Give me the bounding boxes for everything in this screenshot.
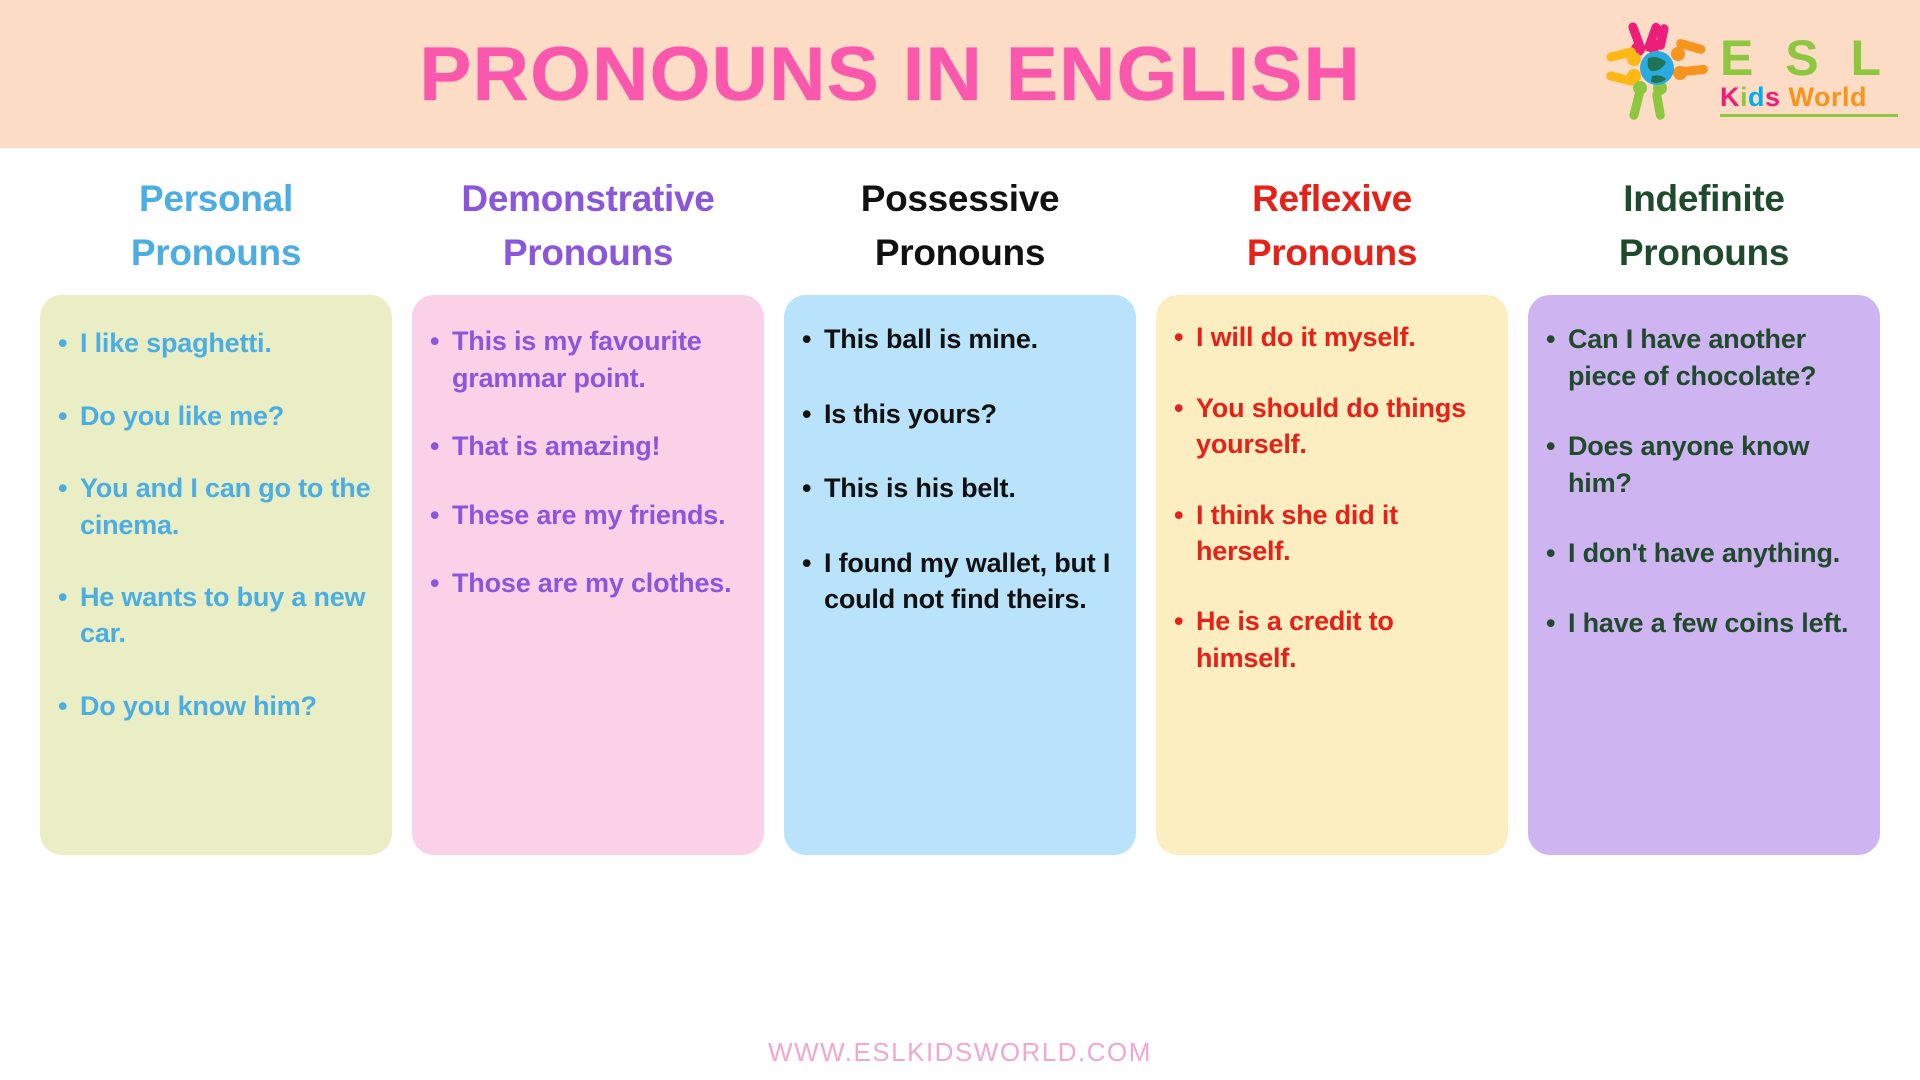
column-title-demonstrative-line2: Pronouns	[412, 226, 764, 280]
column-indefinite-pronouns: Indefinite Pronouns • Can I have another…	[1528, 148, 1880, 855]
list-item: • Those are my clothes.	[430, 565, 746, 601]
list-item-text: I have a few coins left.	[1568, 605, 1862, 641]
column-title-indefinite: Indefinite Pronouns	[1528, 148, 1880, 295]
logo-tagline-word-world: World	[1781, 82, 1868, 112]
list-item: • You should do things yourself.	[1174, 390, 1490, 463]
card-demonstrative-pronouns: • This is my favourite grammar point. • …	[412, 295, 764, 855]
logo-wordmark: E S L Kids World	[1720, 27, 1898, 118]
list-item: • I think she did it herself.	[1174, 497, 1490, 570]
list-item: • He is a credit to himself.	[1174, 603, 1490, 676]
logo-tagline: Kids World	[1720, 83, 1867, 113]
bullet-icon: •	[58, 325, 80, 361]
page-title: PRONOUNS IN ENGLISH	[419, 31, 1361, 118]
list-item: • I like spaghetti.	[58, 325, 374, 361]
card-personal-pronouns: • I like spaghetti. • Do you like me? • …	[40, 295, 392, 855]
bullet-icon: •	[58, 688, 80, 724]
list-item: • That is amazing!	[430, 428, 746, 464]
list-item-text: I found my wallet, but I could not find …	[824, 545, 1118, 618]
bullet-icon: •	[1174, 603, 1196, 639]
list-item: • Does anyone know him?	[1546, 428, 1862, 501]
list-item-text: Do you like me?	[80, 398, 374, 434]
list-item: • Do you know him?	[58, 688, 374, 724]
list-item: • This ball is mine.	[802, 321, 1118, 357]
column-title-personal-line2: Pronouns	[40, 226, 392, 280]
bullet-icon: •	[1174, 497, 1196, 533]
list-item: • You and I can go to the cinema.	[58, 470, 374, 543]
column-demonstrative-pronouns: Demonstrative Pronouns • This is my favo…	[412, 148, 764, 855]
list-item-text: I like spaghetti.	[80, 325, 374, 361]
example-list-demonstrative: • This is my favourite grammar point. • …	[430, 323, 746, 601]
list-item-text: I will do it myself.	[1196, 319, 1490, 355]
list-item: • These are my friends.	[430, 497, 746, 533]
list-item: • This is my favourite grammar point.	[430, 323, 746, 396]
list-item: • Can I have another piece of chocolate?	[1546, 321, 1862, 394]
list-item: • I have a few coins left.	[1546, 605, 1862, 641]
example-list-indefinite: • Can I have another piece of chocolate?…	[1546, 321, 1862, 642]
bullet-icon: •	[1546, 535, 1568, 571]
example-list-reflexive: • I will do it myself. • You should do t…	[1174, 319, 1490, 676]
list-item: • Do you like me?	[58, 398, 374, 434]
column-title-reflexive: Reflexive Pronouns	[1156, 148, 1508, 295]
card-possessive-pronouns: • This ball is mine. • Is this yours? • …	[784, 295, 1136, 855]
logo-tagline-char-d: d	[1748, 82, 1765, 112]
list-item-text: I think she did it herself.	[1196, 497, 1490, 570]
list-item: • Is this yours?	[802, 396, 1118, 432]
list-item-text: You should do things yourself.	[1196, 390, 1490, 463]
esl-kids-world-logo: E S L Kids World	[1602, 8, 1892, 136]
column-title-reflexive-line1: Reflexive	[1156, 172, 1508, 226]
card-reflexive-pronouns: • I will do it myself. • You should do t…	[1156, 295, 1508, 855]
bullet-icon: •	[1174, 390, 1196, 426]
column-title-indefinite-line1: Indefinite	[1528, 172, 1880, 226]
bullet-icon: •	[58, 470, 80, 506]
column-title-reflexive-line2: Pronouns	[1156, 226, 1508, 280]
column-title-demonstrative: Demonstrative Pronouns	[412, 148, 764, 295]
pronoun-columns: Personal Pronouns • I like spaghetti. • …	[0, 148, 1920, 1028]
column-title-possessive: Possessive Pronouns	[784, 148, 1136, 295]
bullet-icon: •	[802, 470, 824, 506]
logo-underline-divider	[1720, 114, 1898, 117]
list-item-text: This ball is mine.	[824, 321, 1118, 357]
column-title-personal: Personal Pronouns	[40, 148, 392, 295]
list-item: • I don't have anything.	[1546, 535, 1862, 571]
bullet-icon: •	[802, 396, 824, 432]
bullet-icon: •	[802, 545, 824, 581]
logo-brand-text: E S L	[1720, 33, 1890, 83]
bullet-icon: •	[1546, 428, 1568, 464]
list-item-text: You and I can go to the cinema.	[80, 470, 374, 543]
column-reflexive-pronouns: Reflexive Pronouns • I will do it myself…	[1156, 148, 1508, 855]
example-list-personal: • I like spaghetti. • Do you like me? • …	[58, 325, 374, 724]
list-item-text: He wants to buy a new car.	[80, 579, 374, 652]
column-title-possessive-line1: Possessive	[784, 172, 1136, 226]
bullet-icon: •	[430, 497, 452, 533]
list-item-text: Can I have another piece of chocolate?	[1568, 321, 1862, 394]
list-item-text: Those are my clothes.	[452, 565, 746, 601]
column-title-demonstrative-line1: Demonstrative	[412, 172, 764, 226]
column-title-possessive-line2: Pronouns	[784, 226, 1136, 280]
column-title-indefinite-line2: Pronouns	[1528, 226, 1880, 280]
list-item: • He wants to buy a new car.	[58, 579, 374, 652]
list-item: • This is his belt.	[802, 470, 1118, 506]
list-item-text: This is his belt.	[824, 470, 1118, 506]
bullet-icon: •	[430, 323, 452, 359]
column-title-personal-line1: Personal	[40, 172, 392, 226]
bullet-icon: •	[430, 428, 452, 464]
list-item: • I found my wallet, but I could not fin…	[802, 545, 1118, 618]
bullet-icon: •	[430, 565, 452, 601]
list-item-text: Is this yours?	[824, 396, 1118, 432]
list-item-text: He is a credit to himself.	[1196, 603, 1490, 676]
globe-people-icon	[1602, 16, 1714, 128]
column-personal-pronouns: Personal Pronouns • I like spaghetti. • …	[40, 148, 392, 855]
footer-website-url: WWW.ESLKIDSWORLD.COM	[0, 1037, 1920, 1068]
bullet-icon: •	[58, 579, 80, 615]
logo-tagline-char-i: i	[1740, 82, 1748, 112]
list-item-text: I don't have anything.	[1568, 535, 1862, 571]
bullet-icon: •	[58, 398, 80, 434]
card-indefinite-pronouns: • Can I have another piece of chocolate?…	[1528, 295, 1880, 855]
bullet-icon: •	[1174, 319, 1196, 355]
list-item-text: Do you know him?	[80, 688, 374, 724]
bullet-icon: •	[1546, 321, 1568, 357]
list-item-text: That is amazing!	[452, 428, 746, 464]
bullet-icon: •	[802, 321, 824, 357]
list-item-text: These are my friends.	[452, 497, 746, 533]
example-list-possessive: • This ball is mine. • Is this yours? • …	[802, 321, 1118, 617]
list-item: • I will do it myself.	[1174, 319, 1490, 355]
logo-tagline-char-s: s	[1765, 82, 1781, 112]
list-item-text: This is my favourite grammar point.	[452, 323, 746, 396]
bullet-icon: •	[1546, 605, 1568, 641]
logo-tagline-char-k: K	[1720, 82, 1740, 112]
column-possessive-pronouns: Possessive Pronouns • This ball is mine.…	[784, 148, 1136, 855]
list-item-text: Does anyone know him?	[1568, 428, 1862, 501]
